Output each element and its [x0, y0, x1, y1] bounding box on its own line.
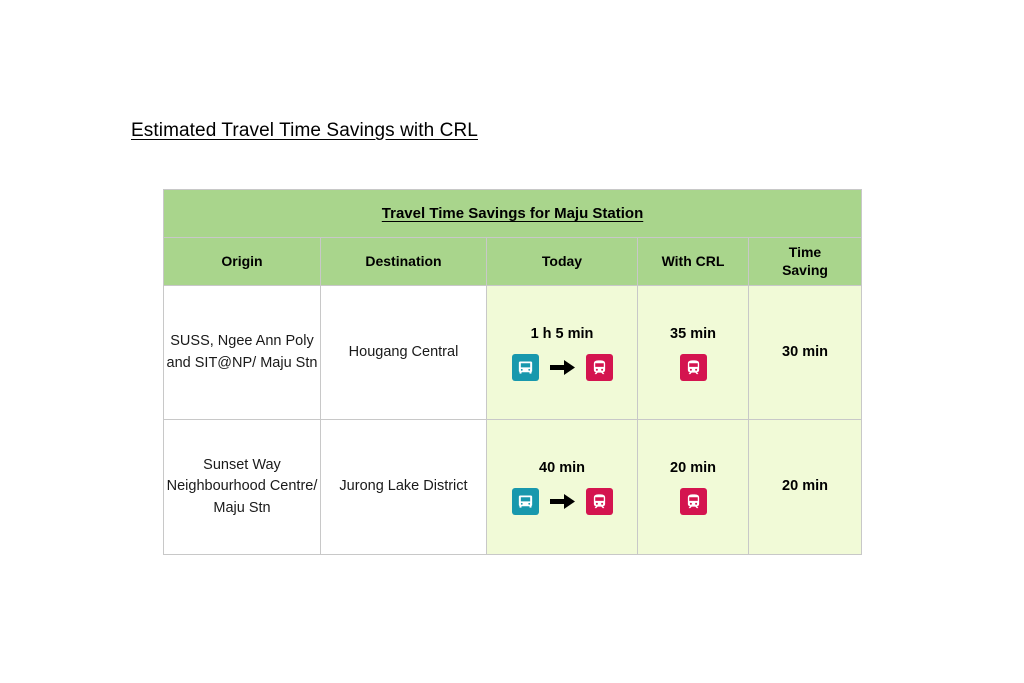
page-title: Estimated Travel Time Savings with CRL: [131, 120, 478, 142]
today-icon-group: [487, 488, 637, 516]
bus-icon: [512, 354, 539, 381]
with-crl-value: 35 min: [638, 324, 748, 345]
with-crl-icon-group: [638, 353, 748, 381]
train-icon: [586, 488, 613, 515]
row-with-crl: 20 min: [638, 420, 749, 555]
time-saving-value: 30 min: [749, 342, 861, 363]
today-value: 40 min: [487, 458, 637, 479]
row-with-crl: 35 min: [638, 286, 749, 420]
train-icon: [680, 488, 707, 515]
arrow-right-icon: [550, 360, 575, 375]
column-header-origin: Origin: [164, 238, 321, 286]
row-today: 40 min: [487, 420, 638, 555]
table-banner-row: Travel Time Savings for Maju Station: [164, 190, 862, 238]
arrow-right-icon: [550, 494, 575, 509]
column-header-destination: Destination: [321, 238, 487, 286]
table-header-row: Origin Destination Today With CRL Time S…: [164, 238, 862, 286]
train-icon: [586, 354, 613, 381]
table-row: Sunset Way Neighbourhood Centre/ Maju St…: [164, 420, 862, 555]
time-saving-value: 20 min: [749, 476, 861, 497]
row-origin: Sunset Way Neighbourhood Centre/ Maju St…: [164, 420, 321, 555]
with-crl-value: 20 min: [638, 458, 748, 479]
column-header-today: Today: [487, 238, 638, 286]
row-origin: SUSS, Ngee Ann Poly and SIT@NP/ Maju Stn: [164, 286, 321, 420]
today-icon-group: [487, 353, 637, 381]
column-header-time-saving-line2: Saving: [782, 262, 828, 278]
row-time-saving: 30 min: [749, 286, 862, 420]
travel-time-savings-table: Travel Time Savings for Maju Station Ori…: [163, 189, 862, 555]
row-time-saving: 20 min: [749, 420, 862, 555]
row-destination: Jurong Lake District: [321, 420, 487, 555]
table-row: SUSS, Ngee Ann Poly and SIT@NP/ Maju Stn…: [164, 286, 862, 420]
table-banner-title: Travel Time Savings for Maju Station: [164, 190, 862, 238]
row-destination: Hougang Central: [321, 286, 487, 420]
column-header-with-crl: With CRL: [638, 238, 749, 286]
with-crl-icon-group: [638, 488, 748, 516]
column-header-time-saving-line1: Time: [789, 244, 821, 260]
row-today: 1 h 5 min: [487, 286, 638, 420]
column-header-time-saving: Time Saving: [749, 238, 862, 286]
today-value: 1 h 5 min: [487, 324, 637, 345]
bus-icon: [512, 488, 539, 515]
train-icon: [680, 354, 707, 381]
